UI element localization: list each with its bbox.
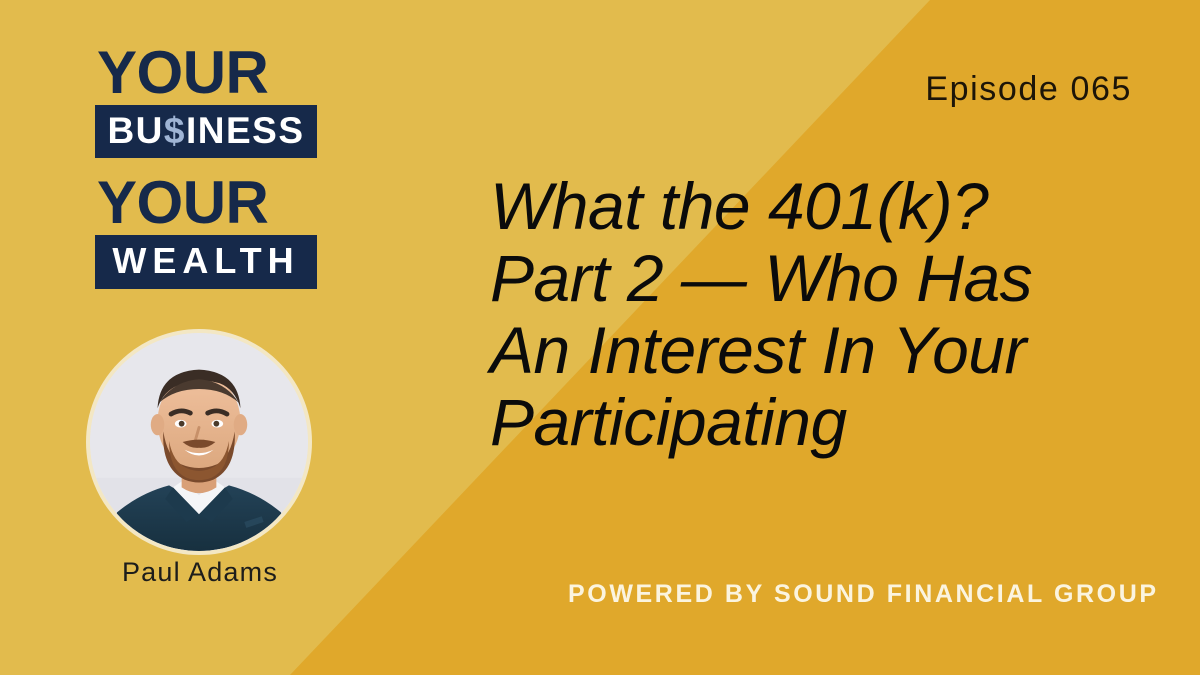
episode-title: What the 401(k)? Part 2 — Who Has An Int… xyxy=(490,170,1150,458)
logo-word-your-top: YOUR xyxy=(97,44,317,103)
title-line-2: Part 2 — Who Has xyxy=(490,242,1150,314)
logo-bar-wealth: WEALTH xyxy=(95,235,317,289)
host-name-label: Paul Adams xyxy=(60,557,340,588)
logo-business-suffix: INESS xyxy=(186,110,305,151)
dollar-sign-icon: $ xyxy=(164,110,186,151)
logo-word-your-bottom: YOUR xyxy=(97,174,317,233)
host-avatar xyxy=(86,329,312,555)
powered-by-footer: POWERED BY SOUND FINANCIAL GROUP xyxy=(568,580,1159,609)
logo-bar-business: BU$INESS xyxy=(95,105,317,158)
headshot-illustration xyxy=(90,333,308,551)
logo-business-prefix: BU xyxy=(107,110,163,151)
title-line-3: An Interest In Your xyxy=(490,314,1150,386)
show-logo: YOUR BU$INESS YOUR WEALTH xyxy=(95,44,317,289)
podcast-episode-cover: YOUR BU$INESS YOUR WEALTH xyxy=(0,0,1200,675)
episode-number-label: Episode 065 xyxy=(925,70,1132,109)
title-line-1: What the 401(k)? xyxy=(490,170,1150,242)
title-line-4: Participating xyxy=(490,386,1150,458)
